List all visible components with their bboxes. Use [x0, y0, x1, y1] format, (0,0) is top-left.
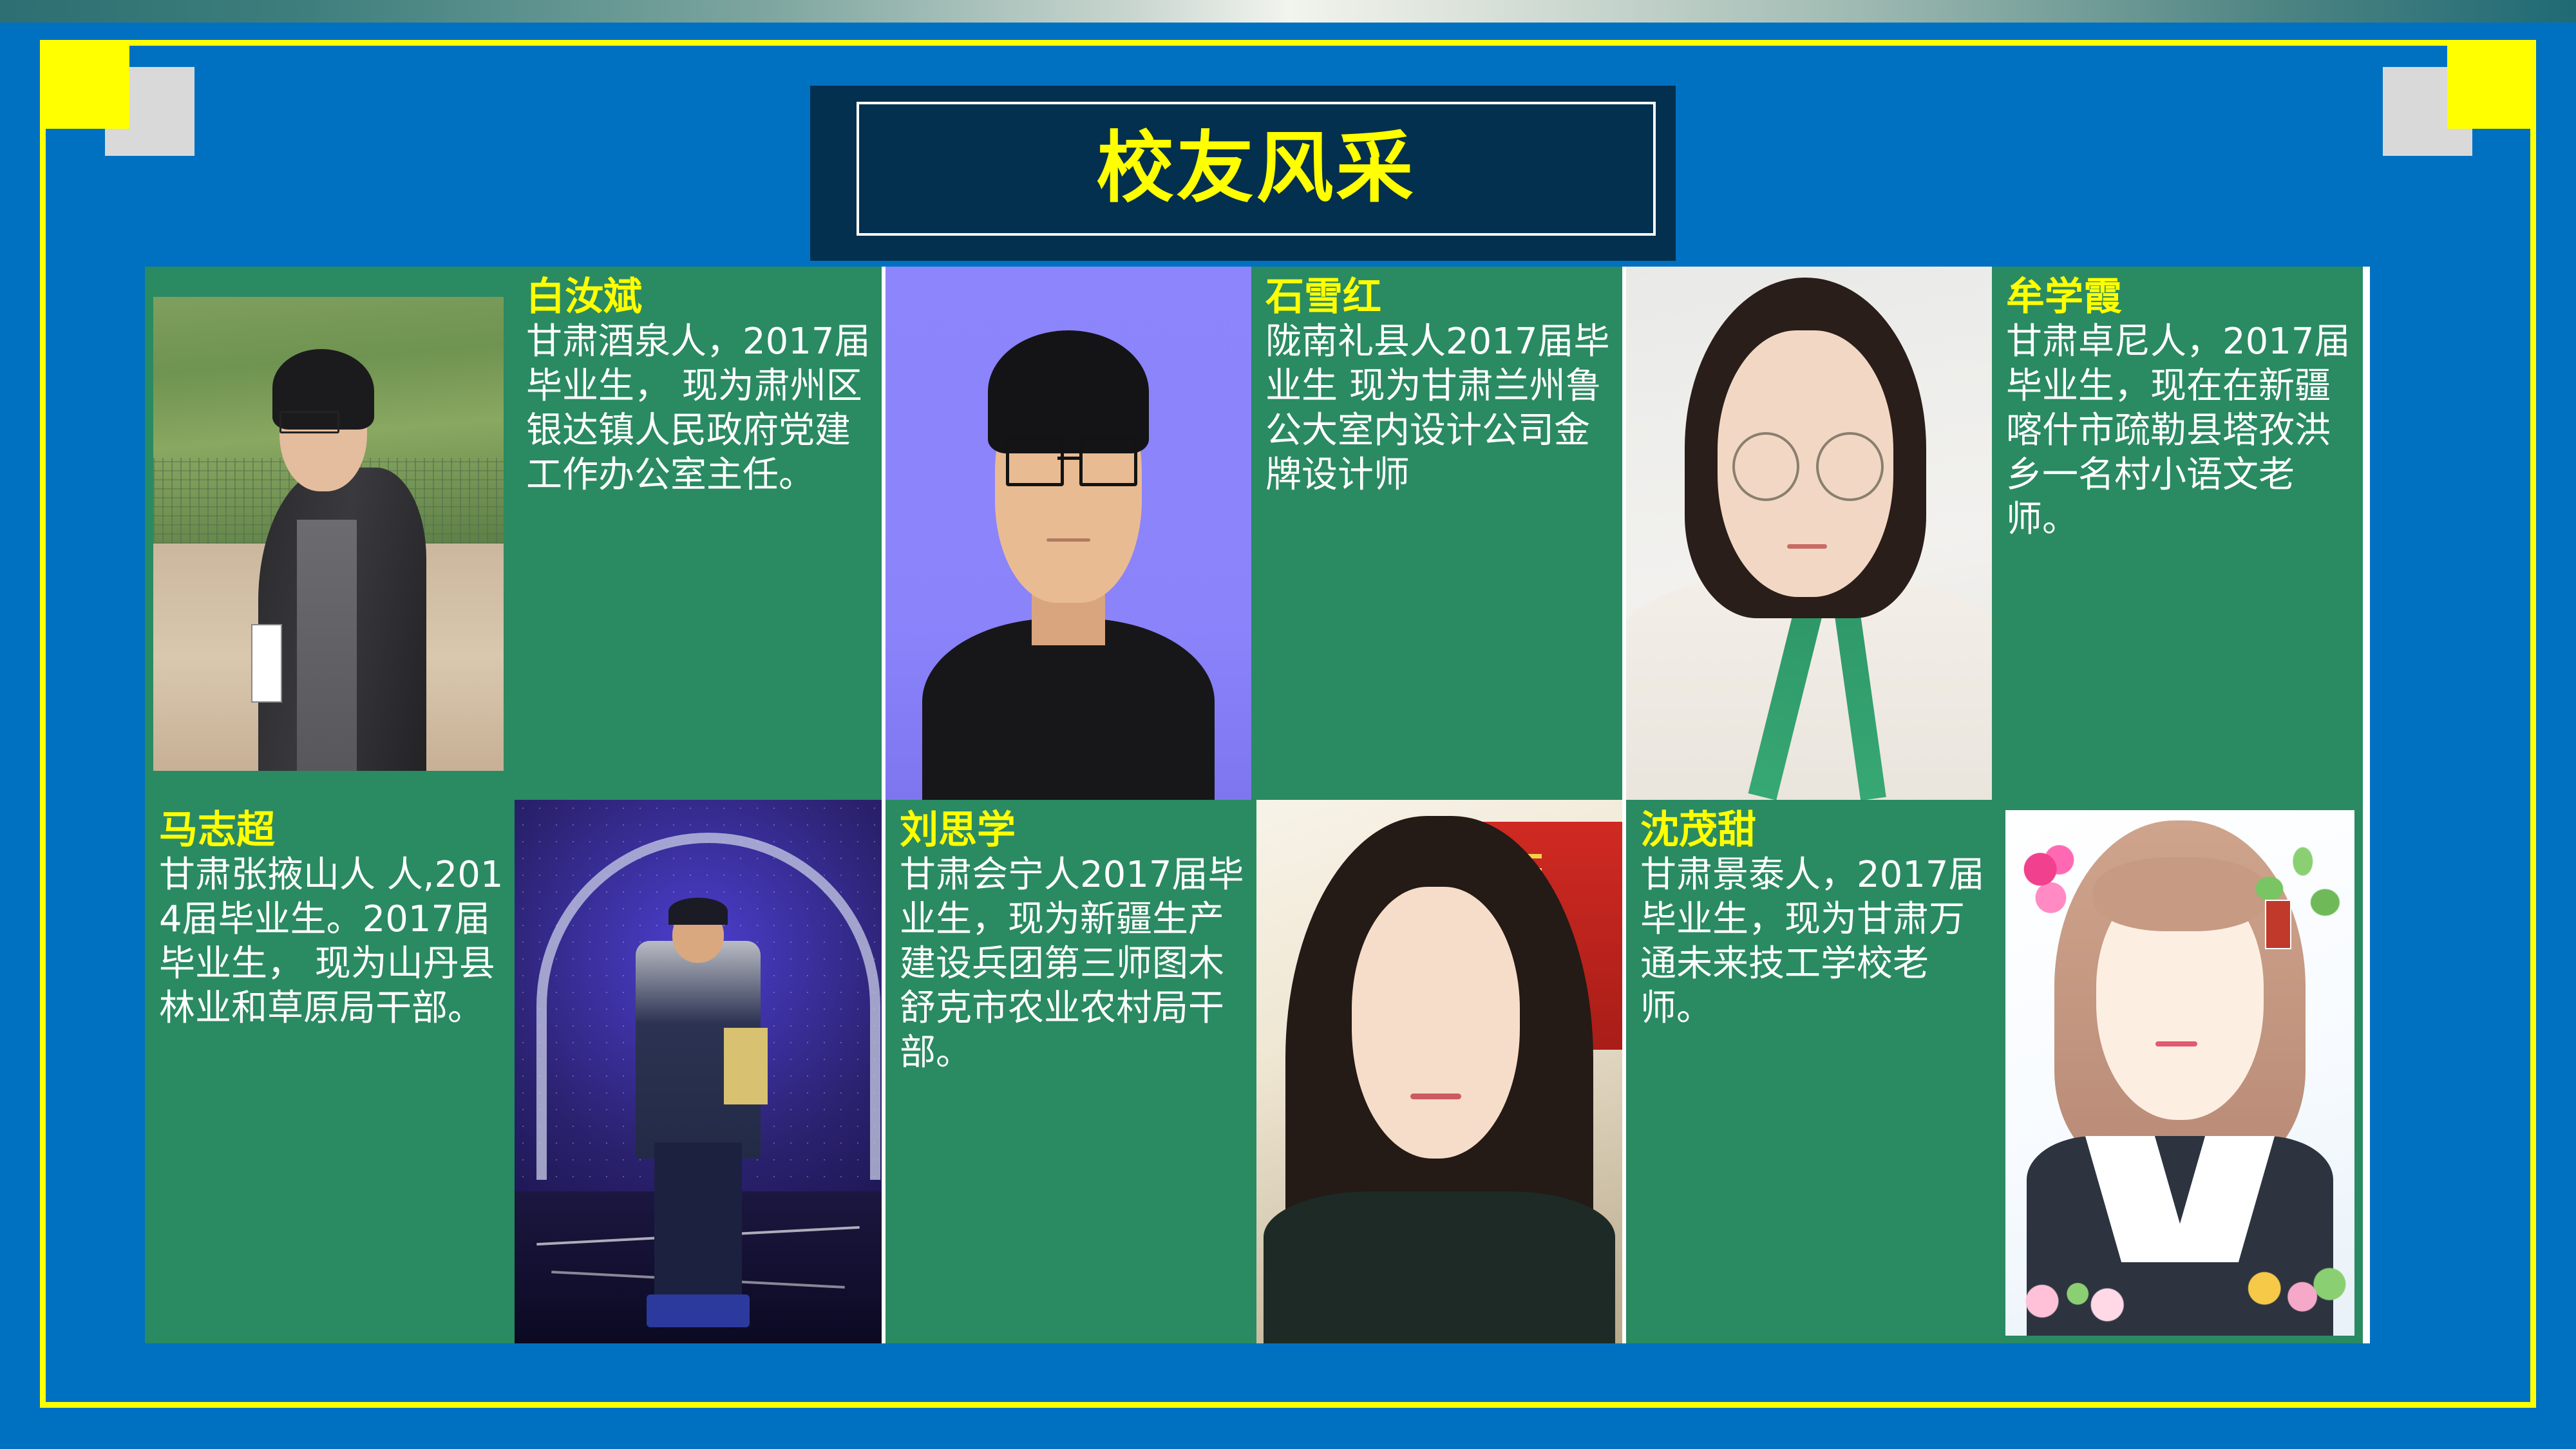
- alumni-info-3: 牟学霞 甘肃卓尼人，2017届毕业生，现在在新疆喀什市疏勒县塔孜洪乡一名村小语文…: [1992, 267, 2363, 800]
- title-banner: 校友风采: [810, 86, 1676, 261]
- alumni-name-2: 石雪红: [1265, 276, 1612, 319]
- alumni-photo-5: [1256, 800, 1622, 1343]
- alumni-name-5: 刘思学: [900, 809, 1246, 852]
- alumni-card-6[interactable]: 沈茂甜 甘肃景泰人，2017届毕业生，现为甘肃万通未来技工学校老师。: [1626, 800, 2370, 1343]
- alumni-photo-1: [145, 267, 512, 800]
- corner-decoration-top-right-yellow: [2447, 40, 2536, 129]
- title-inner-border: 校友风采: [857, 102, 1656, 236]
- corner-decoration-top-left-yellow: [40, 40, 129, 129]
- alumni-photo-4: [515, 800, 882, 1343]
- alumni-card-3[interactable]: 牟学霞 甘肃卓尼人，2017届毕业生，现在在新疆喀什市疏勒县塔孜洪乡一名村小语文…: [1626, 267, 2370, 800]
- alumni-card-1[interactable]: 白汝斌 甘肃酒泉人，2017届毕业生， 现为肃州区银达镇人民政府党建工作办公室主…: [145, 267, 885, 800]
- alumni-bio-2: 陇南礼县人2017届毕业生 现为甘肃兰州鲁公大室内设计公司金牌设计师: [1265, 320, 1612, 498]
- alumni-card-2[interactable]: 石雪红 陇南礼县人2017届毕业生 现为甘肃兰州鲁公大室内设计公司金牌设计师: [885, 267, 1626, 800]
- alumni-bio-5: 甘肃会宁人2017届毕业生，现为新疆生产建设兵团第三师图木舒克市农业农村局干部。: [900, 853, 1246, 1075]
- alumni-bio-1: 甘肃酒泉人，2017届毕业生， 现为肃州区银达镇人民政府党建工作办公室主任。: [526, 320, 871, 498]
- alumni-bio-3: 甘肃卓尼人，2017届毕业生，现在在新疆喀什市疏勒县塔孜洪乡一名村小语文老师。: [2006, 320, 2353, 542]
- alumni-photo-3: [1626, 267, 1992, 800]
- alumni-info-2: 石雪红 陇南礼县人2017届毕业生 现为甘肃兰州鲁公大室内设计公司金牌设计师: [1251, 267, 1622, 800]
- alumni-name-4: 马志超: [159, 809, 504, 852]
- alumni-info-5: 刘思学 甘肃会宁人2017届毕业生，现为新疆生产建设兵团第三师图木舒克市农业农村…: [885, 800, 1256, 1343]
- alumni-info-1: 白汝斌 甘肃酒泉人，2017届毕业生， 现为肃州区银达镇人民政府党建工作办公室主…: [512, 267, 882, 800]
- alumni-info-4: 马志超 甘肃张掖山人 人,2014届毕业生。2017届毕业生， 现为山丹县林业和…: [145, 800, 515, 1343]
- alumni-name-6: 沈茂甜: [1640, 809, 1987, 852]
- alumni-card-5[interactable]: 刘思学 甘肃会宁人2017届毕业生，现为新疆生产建设兵团第三师图木舒克市农业农村…: [885, 800, 1626, 1343]
- top-gradient-strip: [0, 0, 2576, 23]
- alumni-grid: 白汝斌 甘肃酒泉人，2017届毕业生， 现为肃州区银达镇人民政府党建工作办公室主…: [145, 267, 2370, 1343]
- alumni-card-4[interactable]: 马志超 甘肃张掖山人 人,2014届毕业生。2017届毕业生， 现为山丹县林业和…: [145, 800, 885, 1343]
- alumni-photo-2: [885, 267, 1251, 800]
- alumni-bio-6: 甘肃景泰人，2017届毕业生，现为甘肃万通未来技工学校老师。: [1640, 853, 1987, 1031]
- page-title: 校友风采: [859, 130, 1653, 207]
- alumni-info-6: 沈茂甜 甘肃景泰人，2017届毕业生，现为甘肃万通未来技工学校老师。: [1626, 800, 1997, 1343]
- alumni-name-3: 牟学霞: [2006, 276, 2353, 319]
- alumni-name-1: 白汝斌: [526, 276, 871, 319]
- alumni-photo-6: [1997, 800, 2363, 1343]
- alumni-bio-4: 甘肃张掖山人 人,2014届毕业生。2017届毕业生， 现为山丹县林业和草原局干…: [159, 853, 504, 1031]
